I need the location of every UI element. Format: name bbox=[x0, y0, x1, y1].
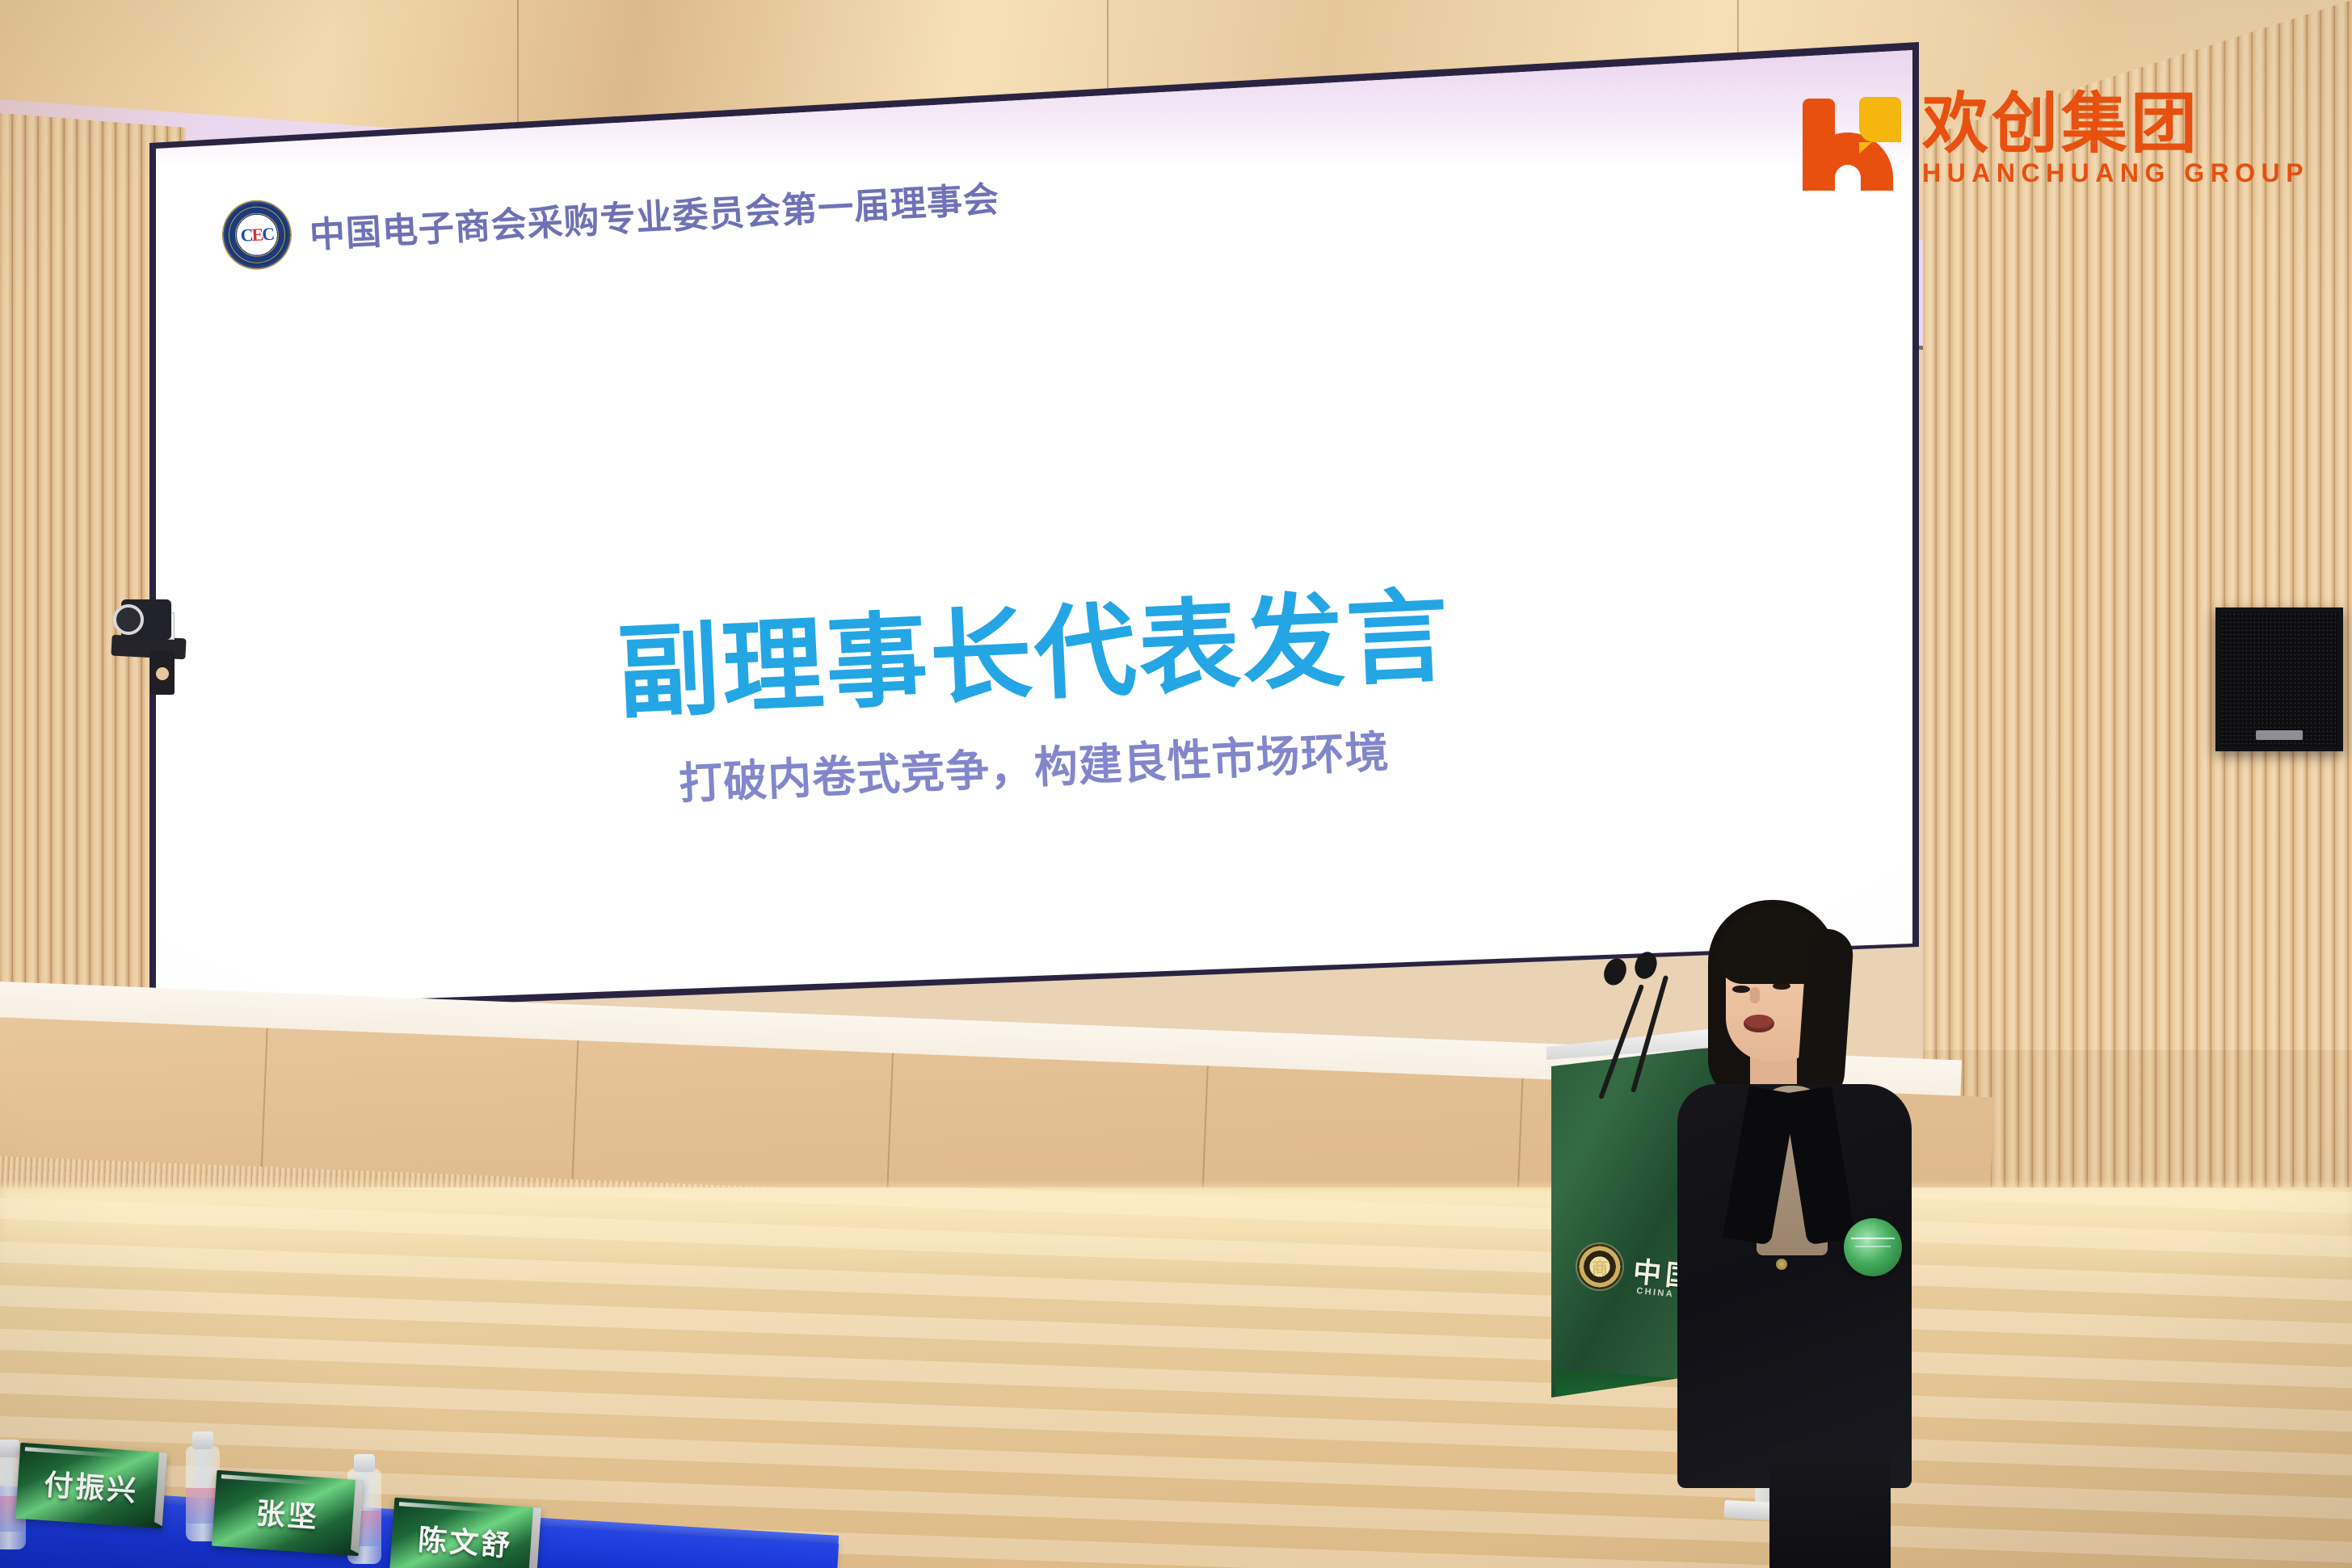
cecc-gold-emblem-icon: 商 bbox=[1577, 1244, 1622, 1289]
podium-emblem-glyph: 商 bbox=[1592, 1255, 1608, 1279]
camera-mount-arm bbox=[150, 651, 175, 695]
name-placard: 陈文舒 bbox=[389, 1498, 541, 1568]
name-placard: 付振兴 bbox=[15, 1443, 167, 1528]
emblem-letter-3: C bbox=[262, 225, 274, 244]
ptz-camera-lens-icon bbox=[113, 604, 144, 635]
corporate-logo-text: 欢创集团 HUANCHUANG GROUP bbox=[1922, 92, 2309, 186]
huanchuang-h-mark-icon bbox=[1798, 87, 1901, 191]
speaker-person bbox=[1672, 897, 1915, 1511]
presentation-slide: CEC 中国电子商会采购专业委员会第一届理事会 副理事长代表发言 打破内卷式竞争… bbox=[156, 47, 1912, 1008]
projection-screen: CEC 中国电子商会采购专业委员会第一届理事会 副理事长代表发言 打破内卷式竞争… bbox=[156, 47, 1912, 1008]
corporate-name-en: HUANCHUANG GROUP bbox=[1922, 160, 2309, 186]
slide-subtitle: 打破内卷式竞争，构建良性市场环境 bbox=[678, 730, 1391, 806]
speaker-mouth bbox=[1744, 1015, 1774, 1032]
slide-title: 副理事长代表发言 bbox=[616, 586, 1454, 725]
podium-area: 商 中国电子商会 CHINA ELECTRONICS CHAMBER OF CO… bbox=[1551, 945, 1891, 1543]
emblem-letter-1: C bbox=[240, 226, 252, 245]
corporate-name-cn: 欢创集团 bbox=[1922, 92, 2309, 157]
placard-name: 陈文舒 bbox=[417, 1516, 514, 1565]
slide-header-text: 中国电子商会采购专业委员会第一届理事会 bbox=[308, 170, 1000, 259]
placard-name: 付振兴 bbox=[43, 1461, 140, 1510]
emblem-letter-2: E bbox=[251, 225, 263, 244]
name-placard: 张坚 bbox=[212, 1470, 364, 1556]
cecc-emblem-icon: CEC bbox=[221, 199, 293, 271]
conference-hall-scene: CEC 中国电子商会采购专业委员会第一届理事会 副理事长代表发言 打破内卷式竞争… bbox=[0, 0, 2352, 1568]
speaker-armband-badge bbox=[1844, 1218, 1902, 1276]
wall-loudspeaker bbox=[2215, 607, 2343, 751]
slide-header: CEC 中国电子商会采购专业委员会第一届理事会 bbox=[221, 162, 1001, 271]
speaker-brand-badge bbox=[2256, 730, 2303, 740]
corporate-logo: 欢创集团 HUANCHUANG GROUP bbox=[1798, 87, 2309, 191]
placard-name: 张坚 bbox=[255, 1490, 320, 1536]
